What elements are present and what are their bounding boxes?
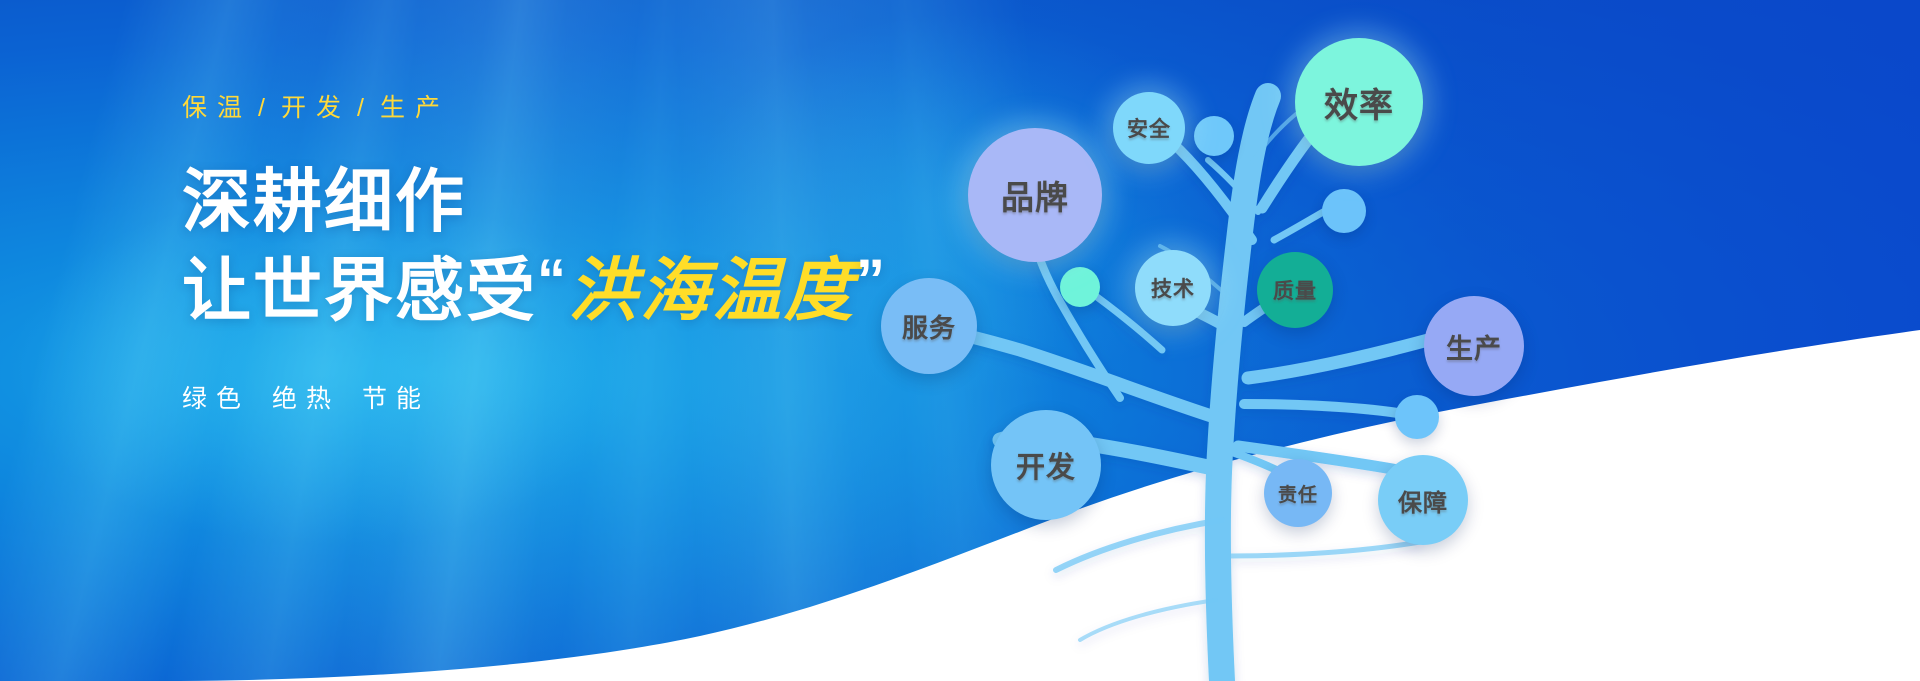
headline-line-2: 让世界感受“洪海温度” xyxy=(182,254,962,327)
copy-block: 保温/开发/生产 深耕细作 让世界感受“洪海温度” 绿色绝热节能 xyxy=(182,96,962,415)
bubble-safety[interactable]: 安全 xyxy=(1113,92,1185,164)
subline-tags: 绿色绝热节能 xyxy=(182,379,962,415)
bubble-label: 服务 xyxy=(902,308,956,345)
bubble-guarantee[interactable]: 保障 xyxy=(1378,455,1468,545)
eyebrow-item-2: 生产 xyxy=(380,94,450,122)
bubble-label: 生产 xyxy=(1446,327,1502,366)
bubble-label: 开发 xyxy=(1016,444,1076,486)
bubble-efficiency[interactable]: 效率 xyxy=(1295,38,1423,166)
bubble-technology[interactable]: 技术 xyxy=(1135,250,1211,326)
bubble-brand[interactable]: 品牌 xyxy=(968,128,1102,262)
eyebrow-tags: 保温/开发/生产 xyxy=(182,96,962,121)
eyebrow-separator-0: / xyxy=(252,94,281,122)
headline-line-1: 深耕细作 xyxy=(182,165,962,238)
headline-line-2-prefix: 让世界感受 xyxy=(182,252,537,329)
bubble-develop[interactable]: 开发 xyxy=(991,410,1101,520)
bubble-label: 安全 xyxy=(1127,113,1171,143)
bubble-service[interactable]: 服务 xyxy=(881,278,977,374)
quote-open: “ xyxy=(537,252,568,310)
bubble-production[interactable]: 生产 xyxy=(1424,296,1524,396)
subline-item-2: 节能 xyxy=(362,385,430,413)
headline-highlight: 洪海温度 xyxy=(568,252,856,329)
bubble-quality[interactable]: 质量 xyxy=(1257,252,1333,328)
eyebrow-item-0: 保温 xyxy=(182,94,252,122)
eyebrow-separator-1: / xyxy=(351,94,380,122)
bubble-label: 效率 xyxy=(1324,78,1394,127)
bubble-label: 保障 xyxy=(1398,483,1448,518)
bubble-duty[interactable]: 责任 xyxy=(1264,459,1332,527)
dot-mint-small-icon xyxy=(1060,267,1100,307)
subline-item-1: 绝热 xyxy=(272,385,340,413)
eyebrow-item-1: 开发 xyxy=(281,94,351,122)
bubble-label: 质量 xyxy=(1273,275,1317,305)
dot-lower-right-icon xyxy=(1395,395,1439,439)
dot-upper-small-icon xyxy=(1194,116,1234,156)
bubble-label: 责任 xyxy=(1278,480,1318,507)
dot-right-small-icon xyxy=(1322,189,1366,233)
subline-item-0: 绿色 xyxy=(182,385,250,413)
bubble-label: 技术 xyxy=(1151,273,1195,303)
quote-close: ” xyxy=(856,252,887,310)
bubble-label: 品牌 xyxy=(1001,171,1069,219)
hero-banner: 保温/开发/生产 深耕细作 让世界感受“洪海温度” 绿色绝热节能 品牌安全效率技… xyxy=(0,0,1920,681)
